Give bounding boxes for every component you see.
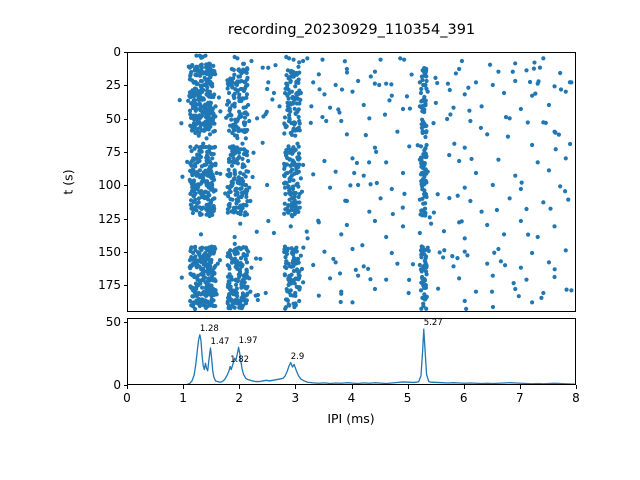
peak-annotation: 1.47 xyxy=(211,338,230,347)
histogram-x-tick xyxy=(183,385,184,389)
raster-y-tick-label: 125 xyxy=(81,213,121,225)
histogram-x-tick xyxy=(408,385,409,389)
histogram-x-tick-label: 0 xyxy=(123,392,131,404)
histogram-x-tick xyxy=(576,385,577,389)
raster-y-tick xyxy=(124,219,128,220)
histogram-y-tick-label: 0 xyxy=(81,379,121,391)
x-axis-label: IPI (ms) xyxy=(327,412,374,425)
histogram-x-tick xyxy=(127,385,128,389)
histogram-y-tick-label: 50 xyxy=(81,316,121,328)
histogram-x-tick-label: 7 xyxy=(516,392,524,404)
histogram-x-tick-label: 8 xyxy=(572,392,580,404)
raster-y-tick-label: 75 xyxy=(81,146,121,158)
raster-y-tick xyxy=(124,285,128,286)
raster-y-tick-label: 50 xyxy=(81,113,121,125)
histogram-x-tick xyxy=(295,385,296,389)
ipi-histogram-canvas xyxy=(128,319,576,385)
raster-y-tick-label: 175 xyxy=(81,279,121,291)
peak-annotation: 1.97 xyxy=(239,337,258,346)
raster-plot-axes xyxy=(127,52,576,312)
page-title: recording_20230929_110354_391 xyxy=(0,22,640,39)
histogram-x-tick-label: 6 xyxy=(460,392,468,404)
histogram-x-tick xyxy=(352,385,353,389)
raster-y-tick-label: 150 xyxy=(81,246,121,258)
matplotlib-figure: recording_20230929_110354_391 0255075100… xyxy=(0,0,640,480)
raster-y-tick xyxy=(124,52,128,53)
peak-annotation: 5.27 xyxy=(424,319,443,328)
raster-y-tick xyxy=(124,185,128,186)
histogram-axes xyxy=(127,318,576,385)
histogram-x-tick-label: 5 xyxy=(404,392,412,404)
histogram-x-tick xyxy=(464,385,465,389)
histogram-x-tick-label: 2 xyxy=(235,392,243,404)
raster-y-tick-label: 0 xyxy=(81,46,121,58)
raster-y-tick xyxy=(124,85,128,86)
raster-scatter-canvas xyxy=(128,53,576,312)
peak-annotation: 1.28 xyxy=(200,325,219,334)
peak-annotation: 1.82 xyxy=(230,356,249,365)
histogram-x-tick-label: 3 xyxy=(292,392,300,404)
histogram-x-tick xyxy=(239,385,240,389)
histogram-x-tick-label: 1 xyxy=(179,392,187,404)
y-axis-label: t (s) xyxy=(62,169,75,194)
raster-y-tick xyxy=(124,152,128,153)
raster-y-tick-label: 25 xyxy=(81,79,121,91)
peak-annotation: 2.9 xyxy=(291,353,305,362)
histogram-y-tick xyxy=(124,322,128,323)
raster-y-tick-label: 100 xyxy=(81,179,121,191)
histogram-x-tick-label: 4 xyxy=(348,392,356,404)
histogram-x-tick xyxy=(520,385,521,389)
raster-y-tick xyxy=(124,119,128,120)
raster-y-tick xyxy=(124,252,128,253)
